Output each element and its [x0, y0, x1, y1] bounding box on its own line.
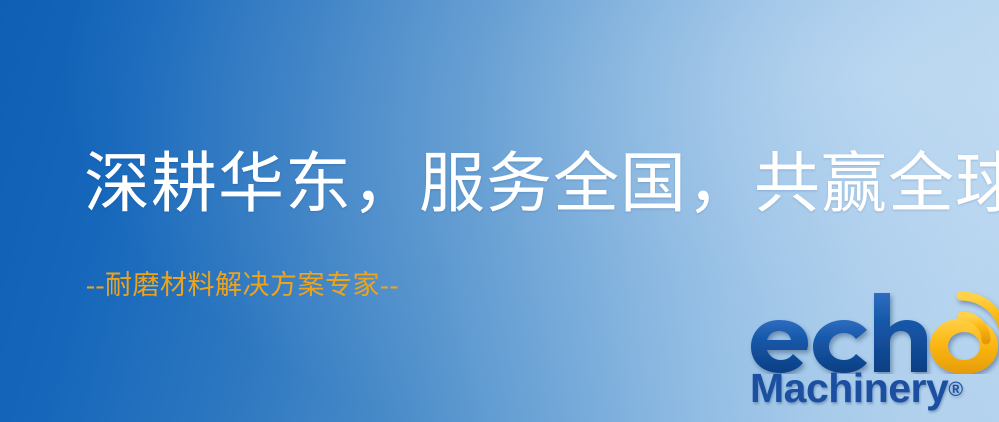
company-logo: Machinery®	[748, 292, 999, 422]
headline-text: 深耕华东，服务全国，共赢全球	[84, 148, 999, 222]
promo-banner: 深耕华东，服务全国，共赢全球 --耐磨材料解决方案专家--	[0, 0, 999, 422]
logo-letter-h	[874, 293, 927, 372]
logo-tagline: Machinery®	[750, 364, 963, 414]
registered-trademark-icon: ®	[948, 379, 963, 401]
logo-tagline-text: Machinery	[750, 365, 948, 411]
logo-wordmark-echo	[748, 292, 999, 374]
subtitle-text: --耐磨材料解决方案专家--	[86, 268, 399, 302]
